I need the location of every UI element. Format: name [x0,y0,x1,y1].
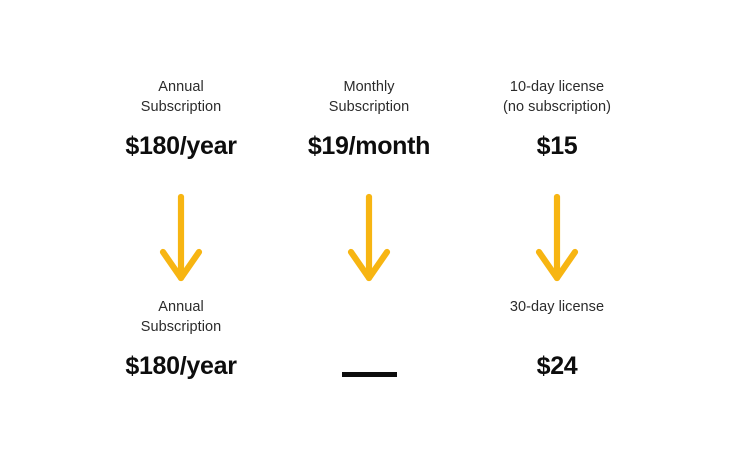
column-annual-before: Annual Subscription $180/year [87,78,275,161]
arrow-cell-monthly [275,192,463,284]
plan-label-license-after: 30-day license [463,298,651,337]
plan-label-annual-after: Annual Subscription [87,298,275,337]
no-equivalent-dash-icon [342,372,397,377]
arrow-down-icon [158,192,204,284]
plan-price-license-before: $15 [463,131,651,161]
plan-price-monthly-before: $19/month [275,131,463,161]
pricing-comparison-graphic: Annual Subscription $180/year Monthly Su… [0,0,738,462]
arrows-row [87,192,651,284]
arrow-cell-license [463,192,651,284]
after-row: Annual Subscription $180/year 30-day lic… [87,298,651,381]
plan-label-license-before: 10-day license (no subscription) [463,78,651,117]
plan-label-annual-before: Annual Subscription [87,78,275,117]
before-row: Annual Subscription $180/year Monthly Su… [87,78,651,161]
column-license-before: 10-day license (no subscription) $15 [463,78,651,161]
column-monthly-before: Monthly Subscription $19/month [275,78,463,161]
plan-price-annual-after: $180/year [87,351,275,381]
plan-price-annual-before: $180/year [87,131,275,161]
column-annual-after: Annual Subscription $180/year [87,298,275,381]
arrow-down-icon [346,192,392,284]
plan-label-monthly-after [275,298,463,337]
column-license-after: 30-day license $24 [463,298,651,381]
arrow-cell-annual [87,192,275,284]
plan-price-monthly-after [275,351,463,381]
arrow-down-icon [534,192,580,284]
column-monthly-after [275,298,463,381]
plan-price-license-after: $24 [463,351,651,381]
plan-label-monthly-before: Monthly Subscription [275,78,463,117]
